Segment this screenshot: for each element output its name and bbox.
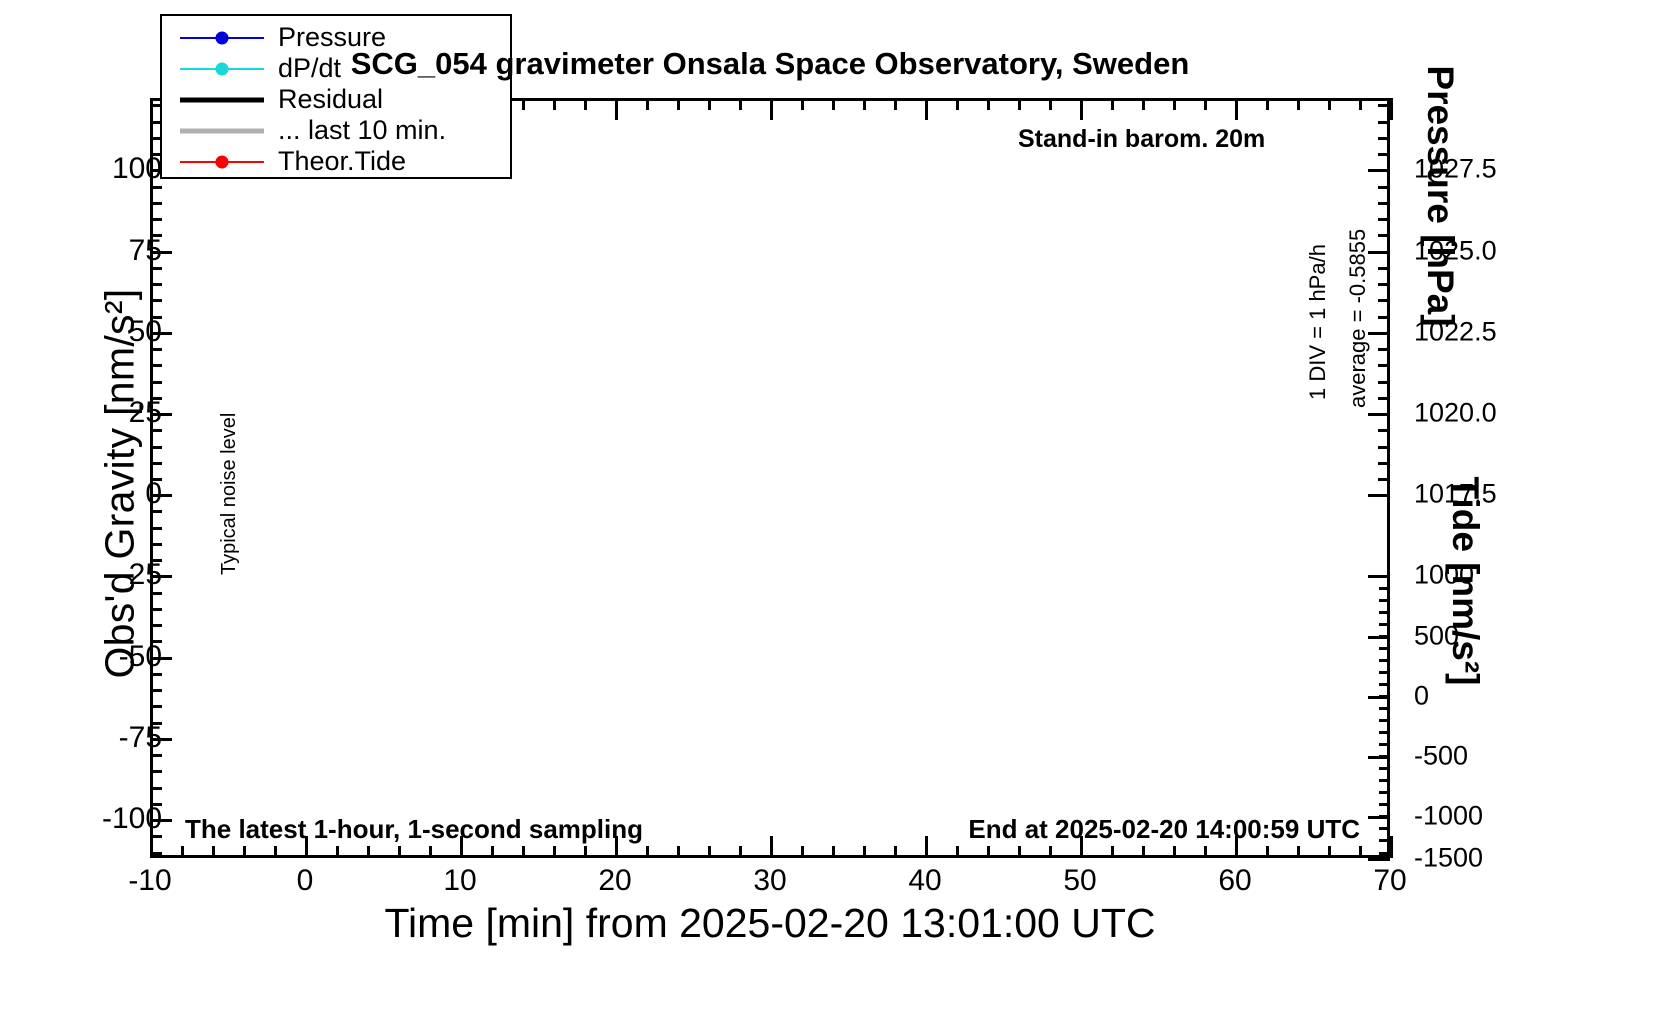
axis-tick — [150, 624, 162, 627]
y-tick-label: 50 — [42, 315, 162, 349]
legend-item[interactable]: ... last 10 min. — [162, 115, 510, 146]
legend-swatch-icon — [180, 90, 264, 110]
axis-tick — [1018, 98, 1021, 110]
pressure-tick-label: 1022.5 — [1414, 316, 1564, 347]
y-tick-label: -25 — [42, 558, 162, 592]
x-tick-label: 10 — [400, 864, 520, 898]
y-tick-label: 0 — [42, 477, 162, 511]
axis-tick — [863, 846, 866, 858]
x-tick-label: 0 — [245, 864, 365, 898]
axis-tick — [1379, 623, 1390, 626]
axis-tick — [1297, 98, 1300, 110]
axis-tick — [1379, 587, 1390, 590]
axis-tick — [1379, 707, 1390, 710]
legend: PressuredP/dtResidual... last 10 min.The… — [160, 14, 512, 179]
x-axis-title: Time [min] from 2025-02-20 13:01:00 UTC — [150, 900, 1390, 947]
axis-tick — [150, 770, 162, 773]
axis-tick — [584, 846, 587, 858]
y-tick-label: 25 — [42, 396, 162, 430]
axis-tick — [894, 98, 897, 110]
axis-tick — [1378, 381, 1390, 384]
axis-tick — [1368, 413, 1390, 416]
axis-tick — [1379, 671, 1390, 674]
axis-tick — [1359, 846, 1362, 858]
axis-tick — [956, 846, 959, 858]
axis-tick — [1328, 98, 1331, 110]
axis-tick — [1368, 332, 1390, 335]
axis-tick — [1379, 839, 1390, 842]
axis-tick — [1378, 186, 1390, 189]
axis-tick — [956, 98, 959, 110]
axis-tick — [1173, 98, 1176, 110]
legend-label: ... last 10 min. — [278, 117, 446, 144]
axis-tick — [1204, 98, 1207, 110]
axis-tick — [1173, 846, 1176, 858]
axis-tick — [1379, 599, 1390, 602]
axis-tick — [1378, 462, 1390, 465]
pressure-tick-label: 1017.5 — [1414, 479, 1564, 510]
axis-tick — [1378, 104, 1390, 107]
axis-ticks — [150, 98, 1390, 858]
axis-tick — [646, 846, 649, 858]
axis-tick — [739, 846, 742, 858]
axis-tick — [987, 98, 990, 110]
axis-tick — [708, 98, 711, 110]
pressure-tick-label: 1020.0 — [1414, 398, 1564, 429]
axis-tick — [150, 364, 162, 367]
axis-tick — [1379, 611, 1390, 614]
axis-tick — [1379, 683, 1390, 686]
axis-tick — [1235, 98, 1238, 120]
axis-tick — [181, 846, 184, 858]
axis-tick — [1379, 791, 1390, 794]
caption-end-time: End at 2025-02-20 14:00:59 UTC — [968, 814, 1360, 845]
axis-tick — [1379, 767, 1390, 770]
axis-tick — [739, 98, 742, 110]
x-tick-label: 70 — [1330, 864, 1450, 898]
axis-tick — [894, 846, 897, 858]
axis-tick — [1049, 98, 1052, 110]
axis-tick — [1142, 98, 1145, 110]
axis-tick — [1368, 169, 1390, 172]
axis-tick — [150, 705, 162, 708]
axis-tick — [925, 98, 928, 120]
axis-tick — [770, 98, 773, 120]
axis-tick — [150, 462, 162, 465]
axis-tick — [708, 846, 711, 858]
average-annotation: average = -0.5855 — [1345, 229, 1371, 408]
axis-tick — [1368, 858, 1390, 861]
typical-noise-level-label: Typical noise level — [218, 413, 241, 575]
axis-tick — [553, 846, 556, 858]
pressure-tick-label: 1025.0 — [1414, 235, 1564, 266]
axis-tick — [1111, 98, 1114, 110]
axis-tick — [1378, 234, 1390, 237]
legend-item[interactable]: Theor.Tide — [162, 146, 510, 177]
axis-tick — [801, 98, 804, 110]
axis-tick — [150, 381, 162, 384]
axis-tick — [1390, 836, 1393, 858]
axis-tick — [274, 846, 277, 858]
axis-tick — [1049, 846, 1052, 858]
y-tick-label: -75 — [42, 721, 162, 755]
tide-tick-label: 1000 — [1414, 560, 1564, 591]
axis-tick — [1111, 846, 1114, 858]
axis-tick — [1328, 846, 1331, 858]
axis-tick — [491, 846, 494, 858]
standin-barometer-annotation: Stand-in barom. 20m — [1018, 125, 1265, 154]
axis-tick — [1379, 779, 1390, 782]
x-tick-label: 60 — [1175, 864, 1295, 898]
axis-tick — [150, 543, 162, 546]
axis-tick — [150, 836, 153, 858]
axis-tick — [1379, 743, 1390, 746]
y-axis-pressure-title: Pressure [hPa] — [1419, 0, 1461, 421]
axis-tick — [1378, 267, 1390, 270]
axis-tick — [1378, 218, 1390, 221]
axis-tick — [150, 689, 162, 692]
axis-tick — [150, 608, 162, 611]
axis-tick — [1378, 121, 1390, 124]
legend-item[interactable]: Residual — [162, 84, 510, 115]
axis-tick — [150, 98, 153, 120]
axis-tick — [646, 98, 649, 110]
axis-tick — [677, 98, 680, 110]
axis-tick — [1266, 846, 1269, 858]
tide-tick-label: 500 — [1414, 620, 1564, 651]
pressure-tick-label: 1027.5 — [1414, 154, 1564, 185]
axis-tick — [615, 98, 618, 120]
axis-tick — [1378, 137, 1390, 140]
axis-tick — [429, 846, 432, 858]
div-scale-annotation: 1 DIV = 1 hPa/h — [1305, 244, 1331, 400]
axis-tick — [553, 98, 556, 110]
x-tick-label: 30 — [710, 864, 830, 898]
axis-tick — [150, 446, 162, 449]
axis-tick — [1368, 494, 1390, 497]
axis-tick — [336, 846, 339, 858]
legend-label: Theor.Tide — [278, 148, 406, 175]
axis-tick — [1378, 299, 1390, 302]
axis-tick — [987, 846, 990, 858]
axis-tick — [832, 846, 835, 858]
legend-swatch-icon — [180, 121, 264, 141]
axis-tick — [1379, 815, 1390, 818]
axis-tick — [1378, 364, 1390, 367]
x-tick-label: 20 — [555, 864, 675, 898]
axis-tick — [150, 527, 162, 530]
axis-tick — [1379, 852, 1390, 855]
axis-tick — [1378, 316, 1390, 319]
axis-tick — [1378, 397, 1390, 400]
axis-tick — [212, 846, 215, 858]
axis-tick — [1359, 98, 1362, 110]
axis-tick — [522, 98, 525, 110]
axis-tick — [1390, 98, 1393, 120]
axis-tick — [150, 299, 162, 302]
axis-tick — [1142, 846, 1145, 858]
axis-tick — [150, 218, 162, 221]
axis-tick — [1378, 446, 1390, 449]
axis-tick — [677, 846, 680, 858]
x-tick-label: -10 — [90, 864, 210, 898]
axis-tick — [522, 846, 525, 858]
tide-tick-label: -500 — [1414, 740, 1564, 771]
tide-tick-label: -1000 — [1414, 800, 1564, 831]
axis-tick — [770, 836, 773, 858]
legend-swatch-icon — [180, 152, 264, 172]
y-tick-label: 100 — [42, 152, 162, 186]
x-tick-label: 50 — [1020, 864, 1140, 898]
legend-label: Residual — [278, 86, 383, 113]
caption-sampling: The latest 1-hour, 1-second sampling — [185, 814, 643, 845]
axis-tick — [1378, 348, 1390, 351]
axis-tick — [1378, 202, 1390, 205]
axis-tick — [150, 202, 162, 205]
axis-tick — [243, 846, 246, 858]
axis-tick — [1379, 635, 1390, 638]
axis-tick — [1379, 695, 1390, 698]
axis-tick — [1080, 98, 1083, 120]
y-tick-label: -50 — [42, 640, 162, 674]
axis-tick — [925, 836, 928, 858]
axis-tick — [398, 846, 401, 858]
axis-tick — [1378, 153, 1390, 156]
axis-tick — [1368, 251, 1390, 254]
axis-tick — [1204, 846, 1207, 858]
tide-tick-label: 0 — [1414, 680, 1564, 711]
axis-tick — [1379, 803, 1390, 806]
axis-tick — [1018, 846, 1021, 858]
axis-tick — [1378, 429, 1390, 432]
axis-tick — [1379, 659, 1390, 662]
legend-swatch-icon — [180, 28, 264, 48]
axis-tick — [367, 846, 370, 858]
axis-tick — [1379, 755, 1390, 758]
axis-tick — [801, 846, 804, 858]
axis-tick — [832, 98, 835, 110]
axis-tick — [1379, 731, 1390, 734]
axis-tick — [150, 283, 162, 286]
axis-tick — [1266, 98, 1269, 110]
axis-tick — [1378, 478, 1390, 481]
y-tick-label: -100 — [42, 802, 162, 836]
axis-tick — [1378, 283, 1390, 286]
chart-title: SCG_054 gravimeter Onsala Space Observat… — [150, 46, 1390, 82]
axis-tick — [863, 98, 866, 110]
axis-tick — [1368, 575, 1390, 578]
axis-tick — [1379, 647, 1390, 650]
axis-tick — [584, 98, 587, 110]
x-tick-label: 40 — [865, 864, 985, 898]
axis-tick — [150, 787, 162, 790]
axis-tick — [1379, 827, 1390, 830]
y-tick-label: 75 — [42, 234, 162, 268]
axis-tick — [1297, 846, 1300, 858]
axis-tick — [1379, 719, 1390, 722]
